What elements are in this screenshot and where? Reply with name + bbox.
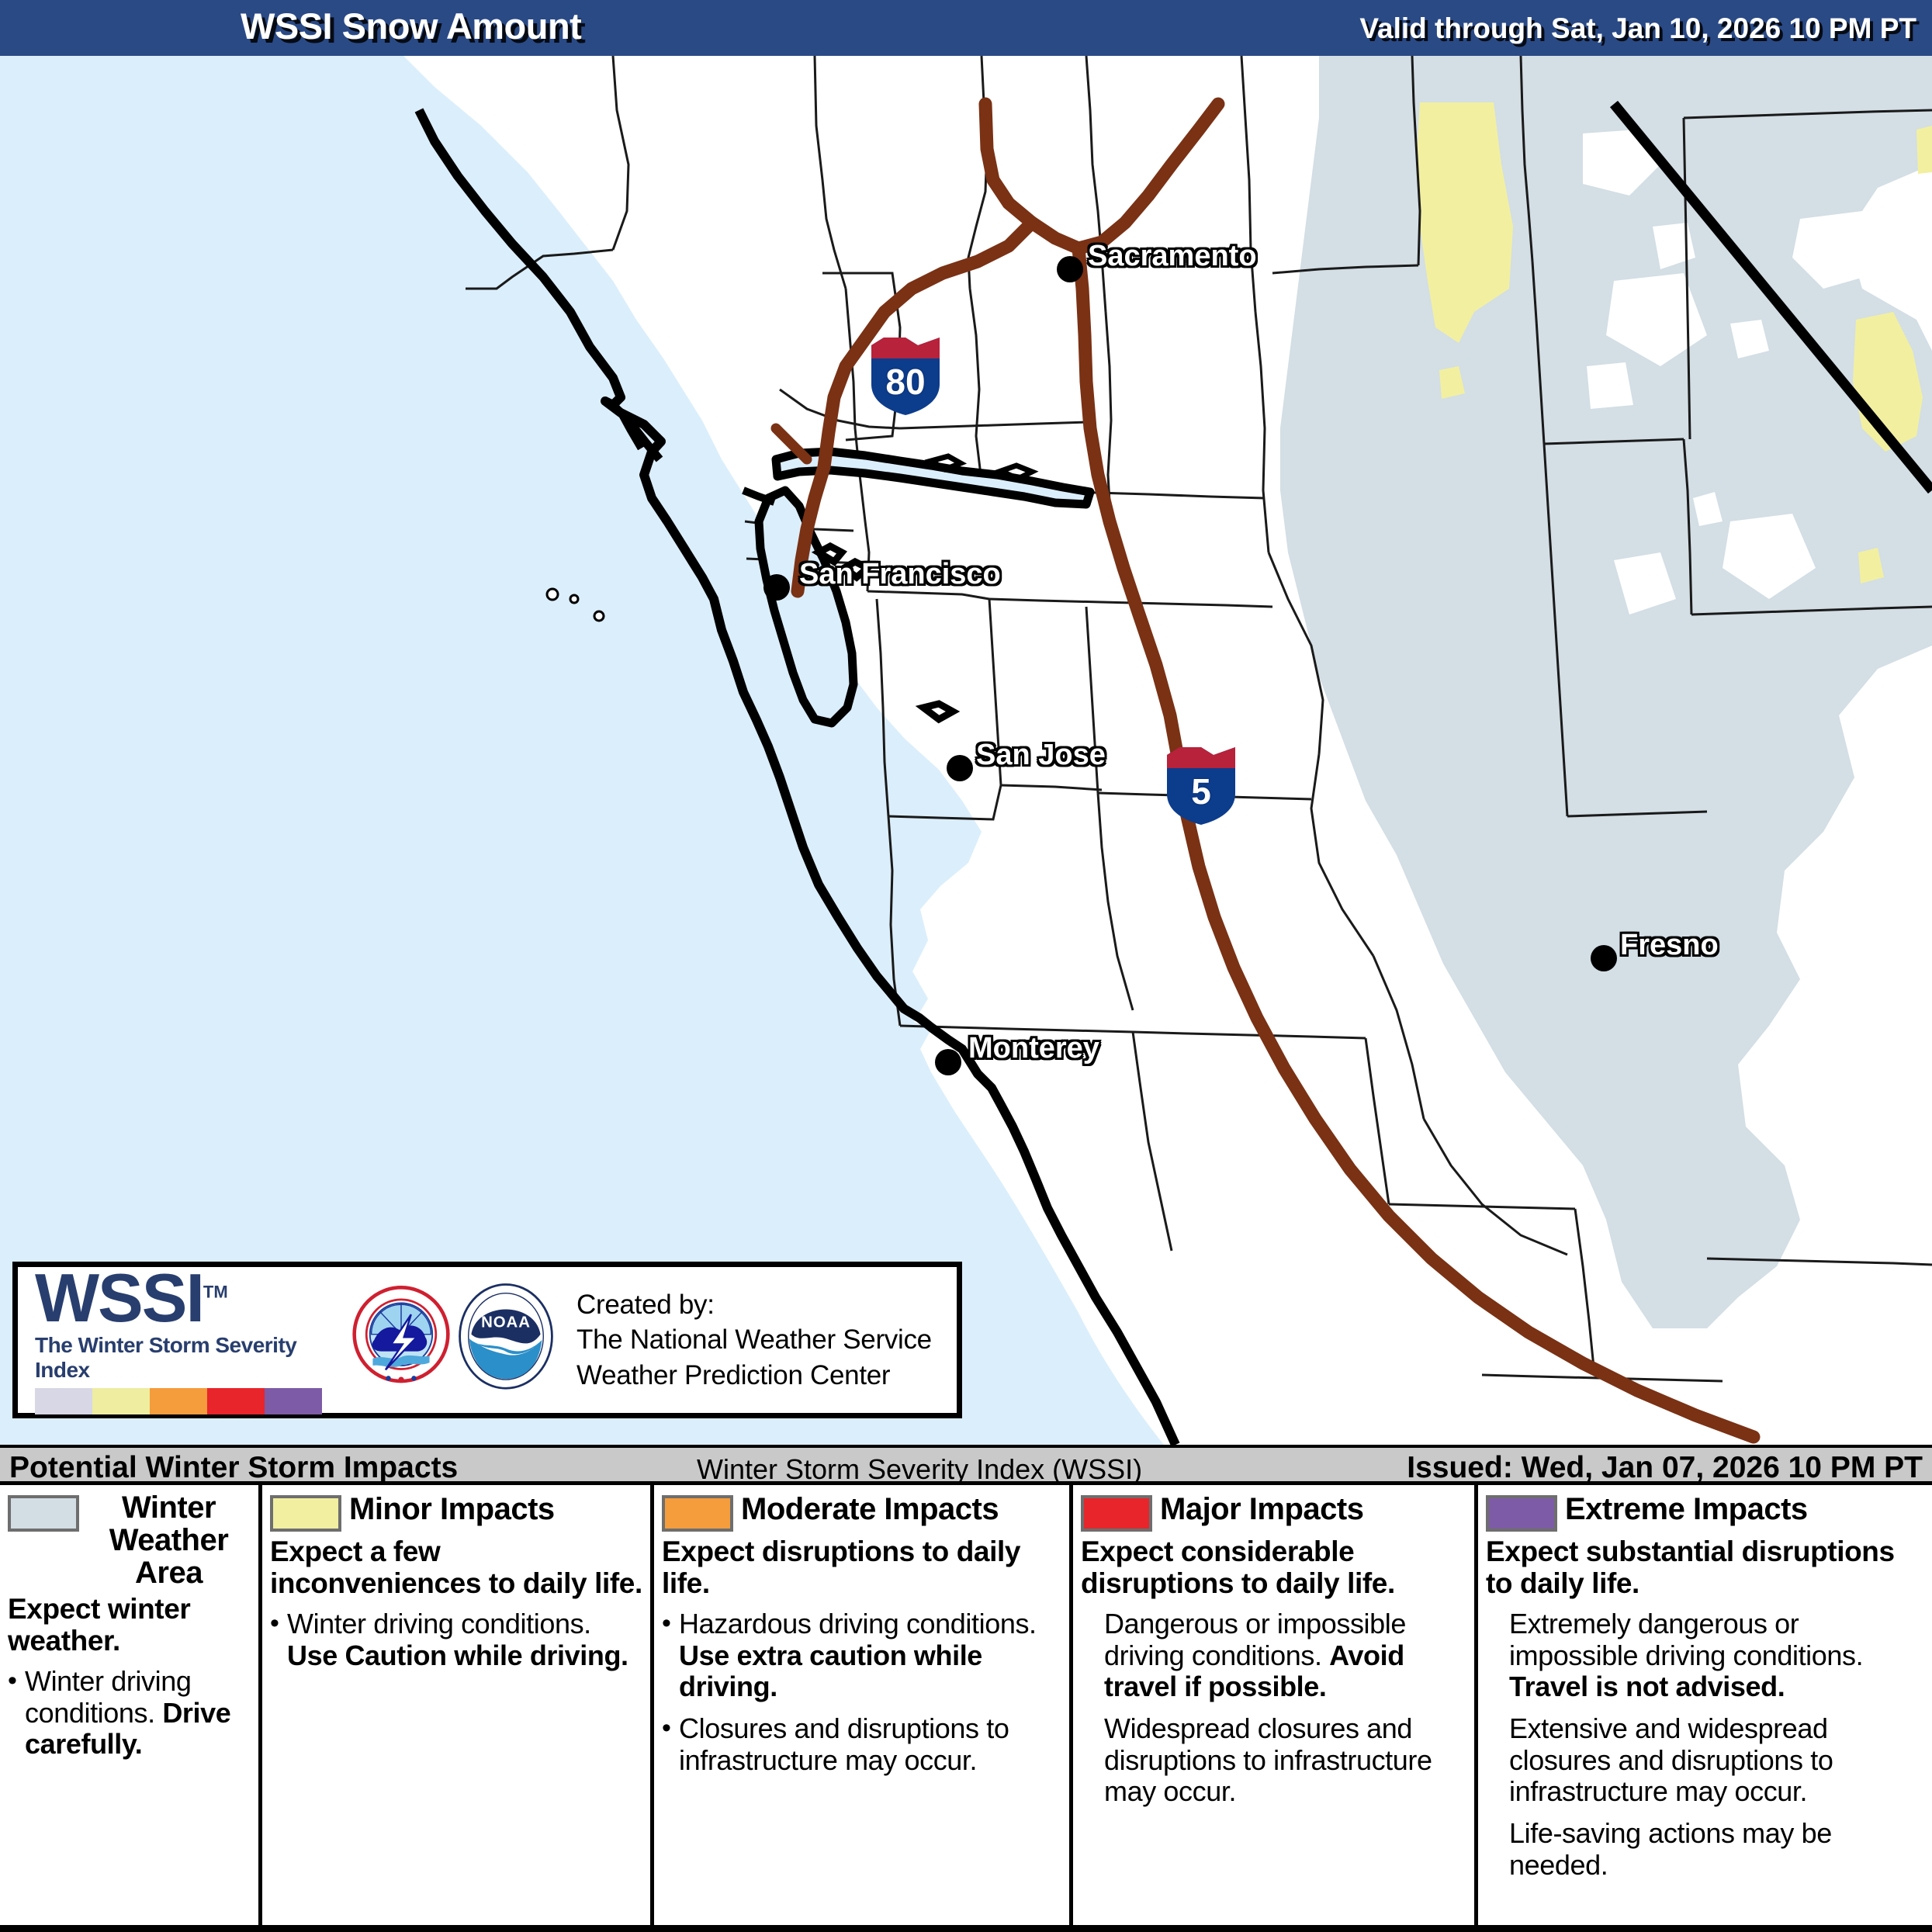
legend-intro-major-impacts: Expect considerable disruptions to daily…	[1081, 1536, 1466, 1599]
bullet-plain-text: Winter driving conditions.	[287, 1608, 591, 1639]
legend-bullet: • Winter driving conditions. Use Caution…	[270, 1608, 642, 1671]
bullet-text: Extensive and widespread closures and di…	[1509, 1713, 1924, 1807]
credit-line-created-by: Created by:	[576, 1287, 932, 1323]
bullet-bold-text: Use Caution while driving.	[287, 1639, 628, 1671]
map-graphics	[0, 56, 1932, 1445]
legend-bullet: Extensive and widespread closures and di…	[1486, 1713, 1924, 1807]
legend-title-minor-impacts: Minor Impacts	[349, 1491, 555, 1525]
wssi-logo: WSSITM The Winter Storm Severity Index	[35, 1265, 345, 1414]
bullet-plain-text: Extensive and widespread closures and di…	[1509, 1712, 1833, 1807]
bullet-marker-icon	[1486, 1818, 1509, 1881]
credit-line-agency: The National Weather Service	[576, 1322, 932, 1358]
status-potential-impacts-label: Potential Winter Storm Impacts	[9, 1451, 458, 1485]
bullet-plain-text: Extremely dangerous or impossible drivin…	[1509, 1608, 1863, 1671]
bullet-bold-text: Use extra caution while driving.	[679, 1639, 982, 1702]
bullet-marker-icon: •	[8, 1666, 25, 1760]
city-label-san-jose: San Jose	[976, 739, 1106, 772]
legend-bullet: Widespread closures and disruptions to i…	[1081, 1713, 1466, 1807]
legend-column-winter-weather-area[interactable]: Winter Weather Area Expect winter weathe…	[0, 1485, 262, 1925]
shield-label-5: 5	[1167, 770, 1235, 812]
legend-bullets-winter-weather-area: • Winter driving conditions. Drive caref…	[8, 1666, 251, 1760]
legend-column-major-impacts[interactable]: Major Impacts Expect considerable disrup…	[1073, 1485, 1478, 1925]
legend-intro-winter-weather-area: Expect winter weather.	[8, 1594, 251, 1657]
wssi-trademark-mark: TM	[203, 1283, 228, 1302]
svg-text:NOAA: NOAA	[481, 1314, 531, 1331]
bullet-text: Dangerous or impossible driving conditio…	[1104, 1608, 1466, 1702]
wssi-logo-wordmark: WSSITM	[35, 1265, 345, 1331]
city-dot-monterey	[935, 1049, 961, 1075]
legend-title-extreme-impacts: Extreme Impacts	[1565, 1491, 1808, 1525]
bullet-text: Winter driving conditions. Drive careful…	[25, 1666, 251, 1760]
city-dot-fresno	[1591, 945, 1617, 971]
bullet-plain-text: Life-saving actions may be needed.	[1509, 1817, 1832, 1880]
page-title: WSSI Snow Amount	[241, 5, 581, 47]
bullet-marker-icon: •	[662, 1713, 679, 1776]
credit-box: WSSITM The Winter Storm Severity Index	[12, 1262, 962, 1418]
legend-bullet: • Closures and disruptions to infrastruc…	[662, 1713, 1061, 1776]
header-bar: WSSI Snow Amount Valid through Sat, Jan …	[0, 0, 1932, 56]
legend-bullets-moderate-impacts: • Hazardous driving conditions. Use extr…	[662, 1608, 1061, 1776]
city-label-monterey: Monterey	[968, 1032, 1099, 1065]
legend-header: Minor Impacts	[270, 1491, 642, 1532]
legend-bullets-extreme-impacts: Extremely dangerous or impossible drivin…	[1486, 1608, 1924, 1881]
bullet-marker-icon: •	[270, 1608, 287, 1671]
legend-header: Moderate Impacts	[662, 1491, 1061, 1532]
legend-header: Major Impacts	[1081, 1491, 1466, 1532]
map-canvas[interactable]: 80 5 Sacramento San Francisco San Jose F…	[0, 56, 1932, 1445]
bullet-text: Hazardous driving conditions. Use extra …	[679, 1608, 1061, 1702]
legend-bullets-minor-impacts: • Winter driving conditions. Use Caution…	[270, 1608, 642, 1671]
legend-bullet: Extremely dangerous or impossible drivin…	[1486, 1608, 1924, 1702]
city-label-fresno: Fresno	[1620, 929, 1719, 962]
legend-swatch-winter-weather-area	[8, 1495, 79, 1532]
farallon-island-b	[570, 595, 578, 603]
impact-legend: Winter Weather Area Expect winter weathe…	[0, 1485, 1932, 1932]
bullet-marker-icon	[1486, 1608, 1509, 1702]
legend-column-minor-impacts[interactable]: Minor Impacts Expect a few inconvenience…	[262, 1485, 654, 1925]
scale-swatch-extreme	[265, 1388, 322, 1414]
legend-intro-minor-impacts: Expect a few inconveniences to daily lif…	[270, 1536, 642, 1599]
scale-swatch-minor	[92, 1388, 150, 1414]
city-dot-sacramento	[1057, 256, 1083, 282]
legend-intro-moderate-impacts: Expect disruptions to daily life.	[662, 1536, 1061, 1599]
legend-bullet: • Hazardous driving conditions. Use extr…	[662, 1608, 1061, 1702]
legend-bullet: Dangerous or impossible driving conditio…	[1081, 1608, 1466, 1702]
bullet-marker-icon: •	[662, 1608, 679, 1702]
shield-label-80: 80	[871, 361, 940, 403]
bullet-marker-icon	[1081, 1608, 1104, 1702]
noaa-seal: NOAA	[455, 1282, 556, 1398]
bullet-marker-icon	[1081, 1713, 1104, 1807]
bullet-text: Widespread closures and disruptions to i…	[1104, 1713, 1466, 1807]
bullet-text: Extremely dangerous or impossible drivin…	[1509, 1608, 1924, 1702]
legend-intro-extreme-impacts: Expect substantial disruptions to daily …	[1486, 1536, 1924, 1599]
city-label-sacramento: Sacramento	[1088, 240, 1257, 273]
city-dot-san-francisco	[763, 574, 790, 601]
credit-text-block: Created by: The National Weather Service…	[576, 1287, 932, 1394]
bullet-text: Closures and disruptions to infrastructu…	[679, 1713, 1061, 1776]
legend-bullet: Life-saving actions may be needed.	[1486, 1818, 1924, 1881]
national-weather-service-seal	[351, 1282, 451, 1398]
bullet-plain-text: Widespread closures and disruptions to i…	[1104, 1712, 1432, 1807]
legend-swatch-extreme-impacts	[1486, 1495, 1557, 1532]
wssi-logo-subtitle: The Winter Storm Severity Index	[35, 1333, 345, 1383]
legend-swatch-moderate-impacts	[662, 1495, 733, 1532]
bullet-plain-text: Closures and disruptions to infrastructu…	[679, 1712, 1009, 1775]
wssi-snow-amount-map: WSSI Snow Amount Valid through Sat, Jan …	[0, 0, 1932, 1932]
legend-header: Winter Weather Area	[8, 1491, 251, 1589]
legend-column-extreme-impacts[interactable]: Extreme Impacts Expect substantial disru…	[1478, 1485, 1932, 1925]
bullet-marker-icon	[1486, 1713, 1509, 1807]
farallon-island-a	[547, 589, 558, 600]
bullet-plain-text: Hazardous driving conditions.	[679, 1608, 1037, 1639]
status-bar: Potential Winter Storm Impacts Winter St…	[0, 1445, 1932, 1485]
bullet-text: Winter driving conditions. Use Caution w…	[287, 1608, 642, 1671]
status-issued-label: Issued: Wed, Jan 07, 2026 10 PM PT	[1407, 1451, 1923, 1485]
wssi-severity-scale-bar	[35, 1388, 322, 1414]
legend-header: Extreme Impacts	[1486, 1491, 1924, 1532]
scale-swatch-moderate	[150, 1388, 207, 1414]
scale-swatch-major	[207, 1388, 265, 1414]
legend-bullets-major-impacts: Dangerous or impossible driving conditio…	[1081, 1608, 1466, 1807]
legend-swatch-major-impacts	[1081, 1495, 1152, 1532]
legend-swatch-minor-impacts	[270, 1495, 341, 1532]
legend-title-major-impacts: Major Impacts	[1160, 1491, 1363, 1525]
bullet-bold-text: Travel is not advised.	[1509, 1671, 1785, 1702]
valid-through-text: Valid through Sat, Jan 10, 2026 10 PM PT	[1359, 12, 1916, 45]
credit-line-center: Weather Prediction Center	[576, 1358, 932, 1394]
wssi-logo-text: WSSI	[35, 1259, 203, 1336]
status-wssi-label: Winter Storm Severity Index (WSSI)	[697, 1453, 1142, 1486]
legend-title-winter-weather-area: Winter Weather Area	[87, 1491, 251, 1589]
legend-bullet: • Winter driving conditions. Drive caref…	[8, 1666, 251, 1760]
legend-column-moderate-impacts[interactable]: Moderate Impacts Expect disruptions to d…	[654, 1485, 1073, 1925]
bullet-text: Life-saving actions may be needed.	[1509, 1818, 1924, 1881]
scale-swatch-winter-weather	[35, 1388, 92, 1414]
city-label-san-francisco: San Francisco	[799, 558, 1001, 591]
legend-title-moderate-impacts: Moderate Impacts	[741, 1491, 999, 1525]
farallon-island-c	[594, 611, 604, 621]
city-dot-san-jose	[947, 755, 973, 781]
